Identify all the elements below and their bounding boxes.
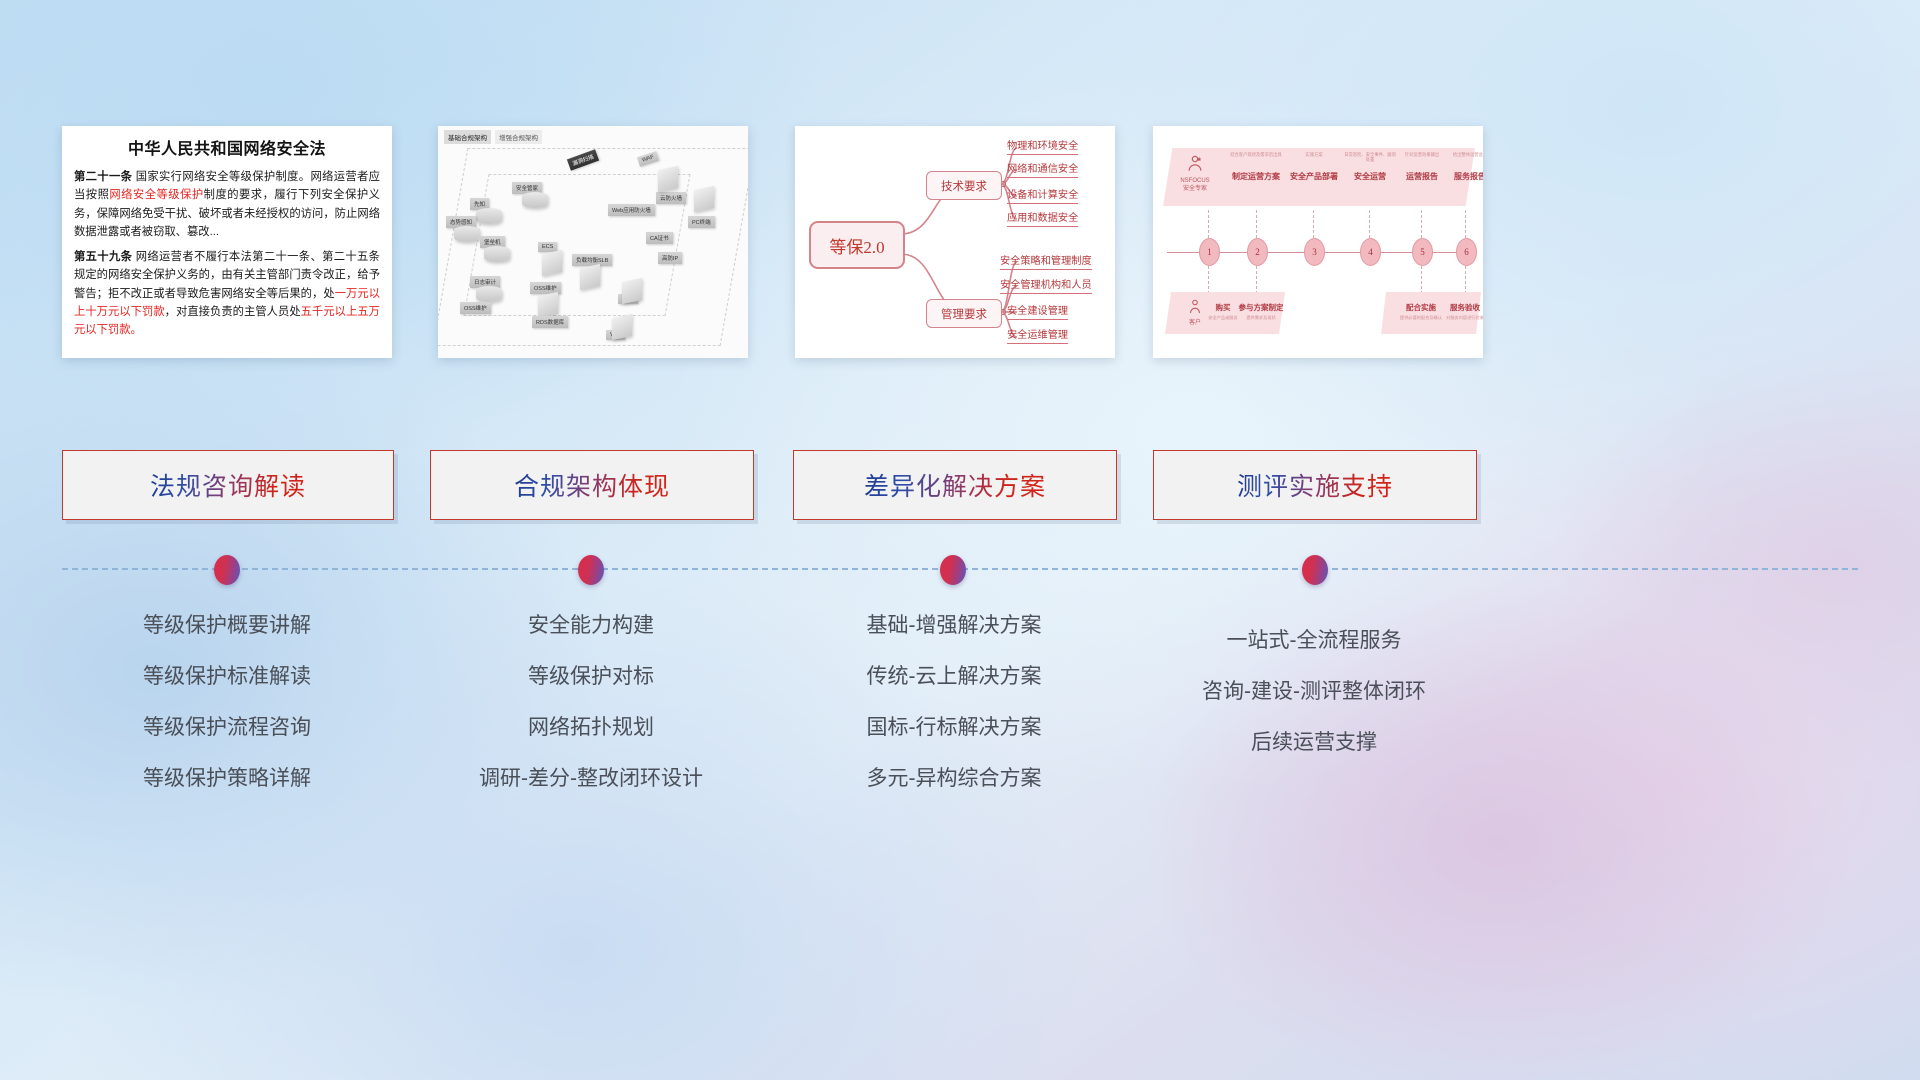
nsfocus-bottom-cell-3-title: 服务验收 <box>1437 302 1483 313</box>
arch-cylinder-1 <box>522 192 548 208</box>
nsfocus-dot-1: 1 <box>1199 238 1220 266</box>
card-mindmap-dengbao: 等保2.0 技术要求 管理要求 物理和环境安全 网络和通信安全 设备和计算安全 … <box>795 126 1115 358</box>
nsfocus-step-3-sub: 针对运营效果输出 <box>1395 152 1449 168</box>
nsfocus-dot-5: 5 <box>1412 238 1433 266</box>
mindmap-leaf-mgmt-3: 安全运维管理 <box>1007 326 1068 344</box>
arch-cube-oss-maint <box>538 292 558 318</box>
nsfocus-vdash-b3 <box>1465 266 1466 294</box>
pillar-list-3: 一站式-全流程服务 咨询-建设-测评整体闭环 后续运营支撑 <box>1153 615 1475 768</box>
list-item: 一站式-全流程服务 <box>1153 615 1475 666</box>
law-article-59-text-b: ，对直接负责的主管人员处 <box>165 306 301 318</box>
timeline-dot-0 <box>214 555 240 585</box>
mindmap-leaf-mgmt-0: 安全策略和管理制度 <box>1000 252 1092 270</box>
pillar-title-label-2: 差异化解决方案 <box>864 467 1046 503</box>
pillar-title-box-1[interactable]: 合规架构体现 <box>430 450 754 520</box>
nsfocus-expert-persona: NSFOCUS 安全专家 <box>1169 154 1221 193</box>
pillar-title-label-1: 合规架构体现 <box>514 467 670 503</box>
nsfocus-dot-2: 2 <box>1247 238 1268 266</box>
list-item: 等级保护标准解读 <box>62 651 392 702</box>
arch-cylinder-5 <box>476 286 502 302</box>
expert-person-icon <box>1185 154 1205 174</box>
list-item: 等级保护概要讲解 <box>62 600 392 651</box>
pillar-title-label-0: 法规咨询解读 <box>150 467 306 503</box>
list-item: 咨询-建设-测评整体闭环 <box>1153 666 1475 717</box>
list-item: 网络拓扑规划 <box>430 702 752 753</box>
nsfocus-bottom-cell-3: 服务验收 对服务内容进行验收 <box>1437 302 1483 320</box>
timeline-connector <box>0 540 1920 600</box>
nsfocus-vdash-2 <box>1313 210 1314 238</box>
pillar-list-0: 等级保护概要讲解 等级保护标准解读 等级保护流程咨询 等级保护策略详解 <box>62 600 392 804</box>
mindmap: 等保2.0 技术要求 管理要求 物理和环境安全 网络和通信安全 设备和计算安全 … <box>795 126 1115 358</box>
card-nsfocus-service-timeline: NSFOCUS 安全专家 结合客户现状及需求后出具 制定运营方案 实施方案 安全… <box>1153 126 1483 358</box>
nsfocus-step-4-title: 服务报告 <box>1443 171 1483 182</box>
list-item: 传统-云上解决方案 <box>793 651 1115 702</box>
mindmap-leaf-mgmt-1: 安全管理机构和人员 <box>1000 276 1092 294</box>
nsfocus-vdash-0 <box>1208 210 1209 238</box>
law-article-21-highlight: 网络安全等级保护 <box>109 189 203 201</box>
mindmap-branch-mgmt: 管理要求 <box>926 299 1002 328</box>
pillar-title-row: 法规咨询解读 合规架构体现 差异化解决方案 测评实施支持 <box>0 450 1920 518</box>
pillar-title-label-3: 测评实施支持 <box>1237 467 1393 503</box>
nsfocus-timeline: NSFOCUS 安全专家 结合客户现状及需求后出具 制定运营方案 实施方案 安全… <box>1153 126 1483 358</box>
nsfocus-role: 安全专家 <box>1169 185 1221 193</box>
pillar-title-box-2[interactable]: 差异化解决方案 <box>793 450 1117 520</box>
nsfocus-bottom-cell-1: 参与方案制定 提供需求及现状 <box>1233 302 1289 320</box>
law-article-59: 第五十九条 网络运营者不履行本法第二十一条、第二十五条规定的网络安全保护义务的，… <box>74 248 380 339</box>
pillar-title-box-0[interactable]: 法规咨询解读 <box>62 450 394 520</box>
timeline-dot-2 <box>940 555 966 585</box>
nsfocus-step-2-title: 安全运营 <box>1343 171 1397 182</box>
mindmap-core-node: 等保2.0 <box>809 221 905 269</box>
nsfocus-dot-4: 4 <box>1360 238 1381 266</box>
arch-cube-edge1 <box>658 166 678 192</box>
nsfocus-step-1-title: 安全产品部署 <box>1287 171 1341 182</box>
mindmap-leaf-mgmt-2: 安全建设管理 <box>1007 302 1068 320</box>
list-item: 多元-异构综合方案 <box>793 753 1115 804</box>
list-item: 调研-差分-整改闭环设计 <box>430 753 752 804</box>
mindmap-leaf-tech-2: 设备和计算安全 <box>1007 186 1078 204</box>
nsfocus-step-0-sub: 结合客户现状及需求后出具 <box>1229 152 1283 168</box>
timeline-dot-3 <box>1302 555 1328 585</box>
arch-cube-ecs <box>542 250 562 276</box>
law-article-21-label: 第二十一条 <box>74 171 132 183</box>
reference-cards-row: 中华人民共和国网络安全法 第二十一条 国家实行网络安全等级保护制度。网络运营者应… <box>0 126 1920 358</box>
nsfocus-vdash-4 <box>1421 210 1422 238</box>
pillar-list-2: 基础-增强解决方案 传统-云上解决方案 国标-行标解决方案 多元-异构综合方案 <box>793 600 1115 804</box>
arch-cube-edge2 <box>694 186 714 212</box>
nsfocus-vdash-1 <box>1256 210 1257 238</box>
list-item: 国标-行标解决方案 <box>793 702 1115 753</box>
arch-cylinder-4 <box>484 246 510 262</box>
nsfocus-vdash-3 <box>1369 210 1370 238</box>
nsfocus-step-3: 针对运营效果输出 运营报告 <box>1395 152 1449 182</box>
arch-node-waf: Web应用防火墙 <box>608 204 655 216</box>
mindmap-leaf-tech-0: 物理和环境安全 <box>1007 137 1078 155</box>
nsfocus-step-1: 实施方案 安全产品部署 <box>1287 152 1341 182</box>
nsfocus-bottom-cell-3-sub: 对服务内容进行验收 <box>1437 315 1483 320</box>
list-item: 安全能力构建 <box>430 600 752 651</box>
arch-cube-vpc <box>612 314 632 340</box>
mindmap-branch-tech: 技术要求 <box>926 171 1002 200</box>
nsfocus-step-2-sub: 日常巡检、安全事件、漏洞处置 <box>1343 152 1397 168</box>
nsfocus-vdash-b2 <box>1421 266 1422 294</box>
arch-node-6: OSS维护 <box>460 302 491 314</box>
card-compliance-architecture: 基础合规架构 增强合规架构 漏洞扫描 安全管家 先知 态势感知 堡垒机 日志审计… <box>438 126 748 358</box>
list-item: 基础-增强解决方案 <box>793 600 1115 651</box>
arch-cylinder-3 <box>454 226 480 242</box>
nsfocus-brand: NSFOCUS <box>1169 177 1221 185</box>
nsfocus-vdash-5 <box>1465 210 1466 238</box>
arch-node-pc: PC终端 <box>688 216 715 228</box>
mindmap-leaf-tech-3: 应用和数据安全 <box>1007 209 1078 227</box>
mindmap-leaf-tech-1: 网络和通信安全 <box>1007 160 1078 178</box>
nsfocus-customer-label: 客户 <box>1169 319 1221 327</box>
nsfocus-vdash-b1 <box>1256 266 1257 294</box>
law-title: 中华人民共和国网络安全法 <box>74 135 380 159</box>
law-article-59-label: 第五十九条 <box>74 251 132 263</box>
arch-node-gaofang: 高防IP <box>658 252 682 264</box>
nsfocus-step-3-title: 运营报告 <box>1395 171 1449 182</box>
law-text-block: 中华人民共和国网络安全法 第二十一条 国家实行网络安全等级保护制度。网络运营者应… <box>62 126 392 358</box>
nsfocus-vdash-b0 <box>1208 266 1209 294</box>
nsfocus-step-4-sub: 给出整体运营总结 <box>1443 152 1483 168</box>
list-item: 后续运营支撑 <box>1153 717 1475 768</box>
timeline-dot-1 <box>578 555 604 585</box>
architecture-diagram: 基础合规架构 增强合规架构 漏洞扫描 安全管家 先知 态势感知 堡垒机 日志审计… <box>438 126 748 358</box>
nsfocus-step-1-sub: 实施方案 <box>1287 152 1341 168</box>
arch-node-cloudfw: 云防火墙 <box>656 192 686 204</box>
arch-node-ca: CA证书 <box>646 232 673 244</box>
list-item: 等级保护策略详解 <box>62 753 392 804</box>
pillar-title-box-3[interactable]: 测评实施支持 <box>1153 450 1477 520</box>
card-cybersecurity-law: 中华人民共和国网络安全法 第二十一条 国家实行网络安全等级保护制度。网络运营者应… <box>62 126 392 358</box>
law-article-21: 第二十一条 国家实行网络安全等级保护制度。网络运营者应当按照网络安全等级保护制度… <box>74 168 380 241</box>
nsfocus-dot-3: 3 <box>1304 238 1325 266</box>
arch-cylinder-2 <box>476 208 502 224</box>
nsfocus-dot-6: 6 <box>1456 238 1477 266</box>
list-item: 等级保护对标 <box>430 651 752 702</box>
arch-cube-slb <box>580 264 600 290</box>
nsfocus-step-0-title: 制定运营方案 <box>1229 171 1283 182</box>
pillar-list-1: 安全能力构建 等级保护对标 网络拓扑规划 调研-差分-整改闭环设计 <box>430 600 752 804</box>
list-item: 等级保护流程咨询 <box>62 702 392 753</box>
arch-node-slb: 负载均衡SLB <box>572 254 612 266</box>
pillar-detail-lists: 等级保护概要讲解 等级保护标准解读 等级保护流程咨询 等级保护策略详解 安全能力… <box>0 600 1920 830</box>
nsfocus-step-4: 给出整体运营总结 服务报告 <box>1443 152 1483 182</box>
nsfocus-step-2: 日常巡检、安全事件、漏洞处置 安全运营 <box>1343 152 1397 182</box>
nsfocus-bottom-cell-1-sub: 提供需求及现状 <box>1233 315 1289 320</box>
nsfocus-bottom-cell-1-title: 参与方案制定 <box>1233 302 1289 313</box>
architecture-canvas: 漏洞扫描 安全管家 先知 态势感知 堡垒机 日志审计 OSS维护 ECS 负载均… <box>442 140 744 354</box>
arch-cube-oss <box>622 278 642 304</box>
arch-node-rds: RDS数据库 <box>532 316 568 328</box>
nsfocus-step-0: 结合客户现状及需求后出具 制定运营方案 <box>1229 152 1283 182</box>
